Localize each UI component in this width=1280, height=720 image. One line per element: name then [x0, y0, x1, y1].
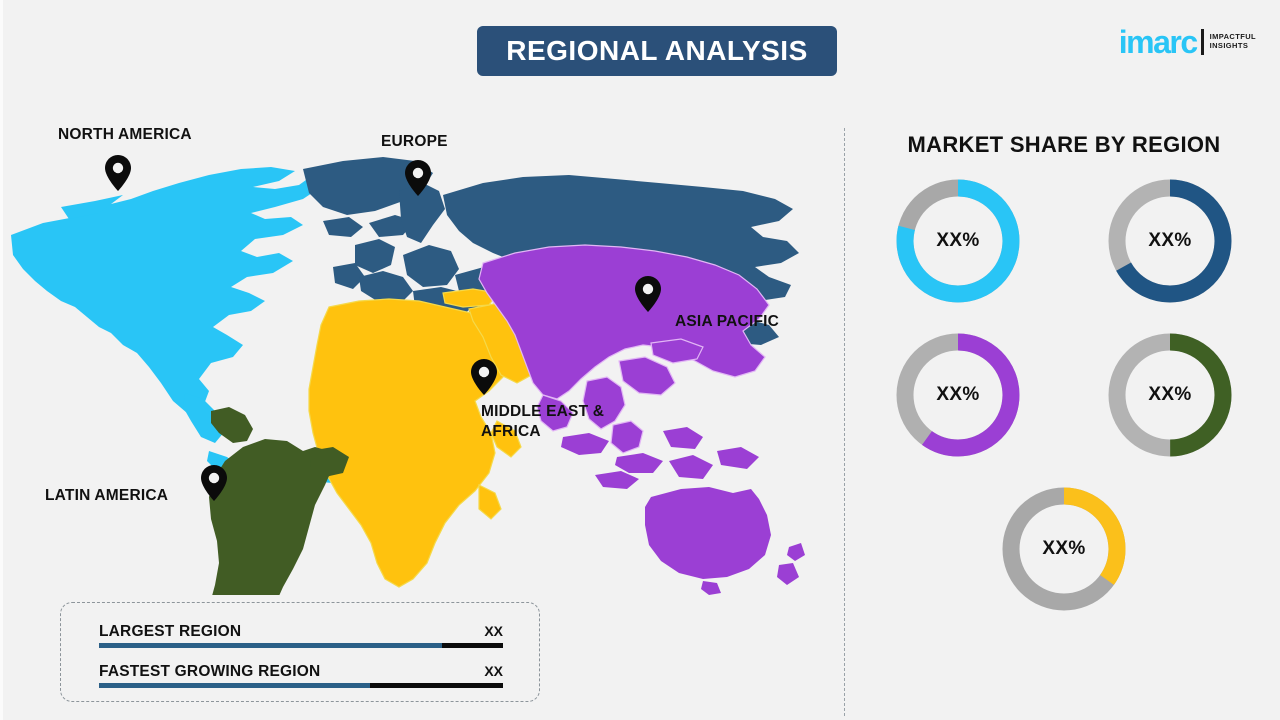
map-pin-europe-icon — [405, 160, 431, 196]
map-pin-latin-america-icon — [201, 465, 227, 501]
market-share-panel: MARKET SHARE BY REGION XX% XX% — [845, 95, 1280, 720]
legend-bar-fill-fastest-growing-region — [99, 683, 370, 688]
market-share-title: MARKET SHARE BY REGION — [845, 132, 1280, 158]
logo-wordmark: imarc — [1119, 26, 1197, 58]
donut-label-latin-america: XX% — [1104, 329, 1236, 461]
donut-europe: XX% — [1104, 175, 1236, 307]
logo-divider-icon — [1201, 29, 1204, 55]
donut-row-1: XX% XX% — [845, 175, 1280, 307]
donut-label-north-america: XX% — [892, 175, 1024, 307]
imarc-logo: imarc IMPACTFUL INSIGHTS — [1119, 22, 1256, 62]
page-title-banner: REGIONAL ANALYSIS — [477, 26, 837, 76]
map-pin-north-america-icon — [105, 155, 131, 191]
map-label-asia-pacific: ASIA PACIFIC — [675, 312, 779, 332]
legend-label-largest-region: LARGEST REGION — [99, 623, 241, 641]
summary-legend-box: LARGEST REGION XX FASTEST GROWING REGION… — [60, 602, 540, 702]
map-pin-asia-pacific-icon — [635, 276, 661, 312]
legend-value-largest-region: XX — [484, 623, 503, 639]
legend-bar-largest-region — [99, 643, 503, 648]
legend-label-fastest-growing-region: FASTEST GROWING REGION — [99, 663, 320, 681]
map-label-europe: EUROPE — [381, 132, 448, 152]
logo-tagline: IMPACTFUL INSIGHTS — [1210, 33, 1256, 50]
legend-bar-fastest-growing-region — [99, 683, 503, 688]
donut-asia-pacific: XX% — [892, 329, 1024, 461]
legend-row-fastest-growing-region: FASTEST GROWING REGION XX — [99, 663, 503, 688]
map-pin-middle-east-africa-icon — [471, 359, 497, 395]
map-label-latin-america: LATIN AMERICA — [45, 486, 168, 506]
legend-row-largest-region: LARGEST REGION XX — [99, 623, 503, 648]
donut-latin-america: XX% — [1104, 329, 1236, 461]
map-label-north-america: NORTH AMERICA — [58, 125, 192, 145]
donut-north-america: XX% — [892, 175, 1024, 307]
legend-bar-fill-largest-region — [99, 643, 442, 648]
infographic-root: REGIONAL ANALYSIS imarc IMPACTFUL INSIGH… — [0, 0, 1280, 720]
donut-label-europe: XX% — [1104, 175, 1236, 307]
world-map: NORTH AMERICA EUROPE ASIA PACIFIC MIDDLE… — [3, 95, 828, 595]
donut-label-middle-east-africa: XX% — [998, 483, 1130, 615]
donut-grid: XX% XX% XX% — [845, 175, 1280, 637]
donut-row-3: XX% — [845, 483, 1280, 615]
map-label-middle-east-africa: MIDDLE EAST & AFRICA — [481, 402, 604, 442]
donut-row-2: XX% XX% — [845, 329, 1280, 461]
logo-tagline-line2: INSIGHTS — [1210, 42, 1256, 51]
legend-value-fastest-growing-region: XX — [484, 663, 503, 679]
page-title: REGIONAL ANALYSIS — [506, 35, 808, 67]
donut-middle-east-africa: XX% — [998, 483, 1130, 615]
donut-label-asia-pacific: XX% — [892, 329, 1024, 461]
